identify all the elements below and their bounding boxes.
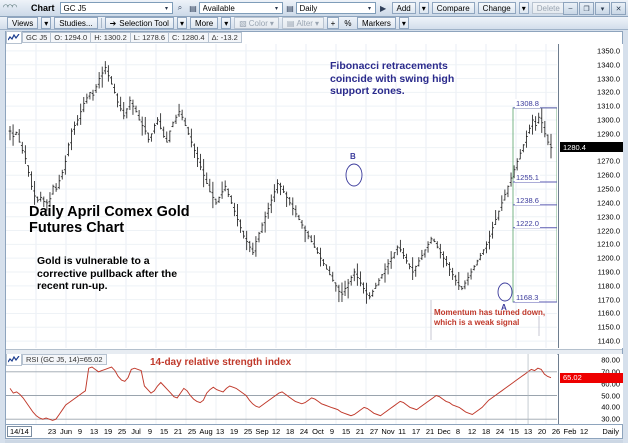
views-dropdown-icon[interactable]: ▾ xyxy=(41,17,51,29)
interval-dropdown[interactable]: Daily ▾ xyxy=(296,2,376,14)
price-tick-label: 1250.0 xyxy=(597,185,620,194)
price-tick-label: 1300.0 xyxy=(597,116,620,125)
date-tick-label: 15 xyxy=(160,427,168,436)
price-pane[interactable]: Fibonacci retracements coincide with swi… xyxy=(6,44,557,348)
selection-tool-dropdown-icon[interactable]: ▾ xyxy=(177,17,187,29)
price-tick-label: 1200.0 xyxy=(597,254,620,263)
date-tick-label: 17 xyxy=(412,427,420,436)
add-button[interactable]: Add xyxy=(392,2,416,14)
date-tick-label: 21 xyxy=(426,427,434,436)
date-tick-label: 18 xyxy=(482,427,490,436)
markers-dropdown-icon[interactable]: ▾ xyxy=(399,17,409,29)
calendar-icon[interactable]: ▤ xyxy=(285,2,296,14)
price-tick-label: 1180.0 xyxy=(598,281,620,290)
price-tick-label: 1340.0 xyxy=(597,60,620,69)
more-dropdown-icon[interactable]: ▾ xyxy=(221,17,231,29)
price-tick-label: 1160.0 xyxy=(598,309,620,318)
chevron-down-icon: ▾ xyxy=(315,19,319,28)
selection-tool-label: Selection Tool xyxy=(119,19,169,28)
quote-high: H: 1300.2 xyxy=(91,32,131,43)
rsi-last-badge: 65.02 xyxy=(560,373,623,383)
delete-button[interactable]: Delete xyxy=(532,2,565,14)
price-tick-label: 1330.0 xyxy=(597,74,620,83)
quote-open: O: 1294.0 xyxy=(51,32,91,43)
availability-value: Available xyxy=(203,4,272,13)
date-tick-label: Feb xyxy=(564,427,577,436)
zoom-in-button[interactable]: + xyxy=(327,17,339,29)
fib-level-label: 1222.0 xyxy=(515,219,540,228)
date-tick-label: Nov xyxy=(381,427,394,436)
studies-button[interactable]: Studies... xyxy=(54,17,97,29)
chevron-down-icon[interactable]: ▾ xyxy=(162,3,172,13)
cursor-icon: ➔ xyxy=(110,19,117,28)
markers-button[interactable]: Markers xyxy=(357,17,396,29)
price-tick-label: 1350.0 xyxy=(597,46,620,55)
date-tick-label: 25 xyxy=(244,427,252,436)
more-button[interactable]: More xyxy=(190,17,218,29)
price-axis[interactable]: 1350.01340.01330.01320.01310.01300.01290… xyxy=(558,44,623,348)
rsi-legend-bar: RSI (GC J5, 14)=65.02 xyxy=(6,354,107,365)
add-dropdown-icon[interactable]: ▾ xyxy=(419,2,429,14)
date-tick-label: 9 xyxy=(78,427,82,436)
date-tick-label: 20 xyxy=(538,427,546,436)
symbol-input[interactable]: GC J5 ▾ xyxy=(60,2,173,14)
quote-bar: GC J5 O: 1294.0 H: 1300.2 L: 1278.6 C: 1… xyxy=(6,32,242,43)
date-tick-label: 18 xyxy=(286,427,294,436)
date-tick-label: 13 xyxy=(216,427,224,436)
date-tick-label: 13 xyxy=(90,427,98,436)
chevron-down-icon[interactable]: ▾ xyxy=(272,3,282,13)
date-tick-label: 13 xyxy=(524,427,532,436)
date-tick-label: 27 xyxy=(370,427,378,436)
date-tick-label: 12 xyxy=(468,427,476,436)
date-tick-label: 25 xyxy=(118,427,126,436)
alter-button[interactable]: ▤ Alter ▾ xyxy=(282,17,324,29)
toolbar-divider xyxy=(101,18,102,28)
price-tick-label: 1230.0 xyxy=(597,212,620,221)
swing-low-marker-label: A xyxy=(501,303,507,312)
price-plot xyxy=(6,44,557,348)
momentum-annotation: Momentum has turned down, which is a wea… xyxy=(434,308,545,328)
chevron-down-icon: ▾ xyxy=(270,19,274,28)
date-tick-label: 9 xyxy=(148,427,152,436)
last-price-badge: 1280.4 xyxy=(560,142,623,152)
chart-tools-toolbar: Views ▾ Studies... ➔ Selection Tool ▾ Mo… xyxy=(0,17,628,30)
price-tick-label: 1240.0 xyxy=(597,198,620,207)
date-tick-label: Aug xyxy=(199,427,212,436)
chart-application-window: ◠◠◠ Chart GC J5 ▾ ⌕ ▤ Available ▾ ▤ Dail… xyxy=(0,0,628,443)
date-tick-label: 11 xyxy=(398,427,406,436)
selection-tool-button[interactable]: ➔ Selection Tool xyxy=(105,17,174,29)
price-tick-label: 1210.0 xyxy=(597,240,620,249)
line-style-icon: ▤ xyxy=(287,19,295,28)
rsi-legend-label: RSI (GC J5, 14)=65.02 xyxy=(22,354,107,365)
price-tick-label: 1190.0 xyxy=(598,268,620,277)
minimize-icon[interactable]: – xyxy=(563,2,578,15)
quote-symbol: GC J5 xyxy=(22,32,51,43)
chevron-down-icon[interactable]: ▾ xyxy=(365,3,375,13)
date-tick-label: 19 xyxy=(104,427,112,436)
date-tick-label: Sep xyxy=(255,427,268,436)
date-tick-label: 12 xyxy=(580,427,588,436)
date-tick-label: Jun xyxy=(60,427,72,436)
rsi-tick-label: 50.00 xyxy=(601,391,620,400)
swing-high-marker-label: B xyxy=(350,152,356,161)
close-icon[interactable]: ✕ xyxy=(611,2,626,15)
window-controls: – ❐ ▾ ✕ xyxy=(563,2,626,15)
date-tick-label: Oct xyxy=(312,427,324,436)
symbol-value: GC J5 xyxy=(64,4,162,13)
price-tick-label: 1270.0 xyxy=(597,157,620,166)
change-button[interactable]: Change xyxy=(478,2,516,14)
price-tick-label: 1150.0 xyxy=(598,323,620,332)
quote-change: Δ: -13.2 xyxy=(209,32,242,43)
bearish-annotation: Gold is vulnerable to a corrective pullb… xyxy=(37,255,177,293)
quote-low: L: 1278.6 xyxy=(131,32,169,43)
views-button[interactable]: Views xyxy=(7,17,38,29)
date-tick-label: '15 xyxy=(509,427,519,436)
date-tick-label: 24 xyxy=(496,427,504,436)
color-swatch-icon: ▧ xyxy=(239,19,247,28)
window-menu-icon[interactable]: ▾ xyxy=(595,2,610,15)
fibonacci-annotation: Fibonacci retracements coincide with swi… xyxy=(330,60,454,98)
rsi-tick-label: 80.00 xyxy=(601,355,620,364)
date-tick-label: 23 xyxy=(48,427,56,436)
date-tick-label: Dec xyxy=(437,427,450,436)
compare-button[interactable]: Compare xyxy=(432,2,475,14)
change-dropdown-icon[interactable]: ▾ xyxy=(519,2,529,14)
quote-close: C: 1280.4 xyxy=(169,32,209,43)
chart-frame: GC J5 O: 1294.0 H: 1300.2 L: 1278.6 C: 1… xyxy=(5,31,623,438)
date-tick-label: 15 xyxy=(342,427,350,436)
color-label: Color xyxy=(249,19,268,28)
restore-icon[interactable]: ❐ xyxy=(579,2,594,15)
play-icon[interactable]: ▶ xyxy=(378,2,389,14)
chart-type-icon[interactable] xyxy=(6,31,22,44)
color-button[interactable]: ▧ Color ▾ xyxy=(234,17,279,29)
app-logo-icon: ◠◠◠ xyxy=(3,3,29,14)
fib-level-label: 1255.1 xyxy=(515,173,540,182)
date-tick-label: 21 xyxy=(174,427,182,436)
rsi-caption: 14-day relative strength index xyxy=(150,357,291,368)
alter-label: Alter xyxy=(296,19,312,28)
price-tick-label: 1170.0 xyxy=(598,295,620,304)
date-tick-label: 19 xyxy=(230,427,238,436)
date-tick-label: 24 xyxy=(300,427,308,436)
fib-level-label: 1308.8 xyxy=(515,99,540,108)
fib-level-label: 1168.3 xyxy=(515,293,539,302)
interval-value: Daily xyxy=(300,4,365,13)
date-tick-label: Jul xyxy=(131,427,141,436)
fib-level-label: 1238.6 xyxy=(515,196,540,205)
date-tick-label: 12 xyxy=(272,427,280,436)
price-tick-label: 1260.0 xyxy=(597,171,620,180)
date-tick-label: 25 xyxy=(188,427,196,436)
price-tick-label: 1310.0 xyxy=(597,102,620,111)
availability-dropdown[interactable]: Available ▾ xyxy=(199,2,283,14)
axis-interval-label: Daily xyxy=(602,427,619,436)
date-tick-label: 8 xyxy=(456,427,460,436)
window-titlebar: ◠◠◠ Chart GC J5 ▾ ⌕ ▤ Available ▾ ▤ Dail… xyxy=(0,0,628,17)
date-tick-label: 9 xyxy=(330,427,334,436)
price-tick-label: 1140.0 xyxy=(598,337,620,346)
axis-start-label: 14/14 xyxy=(7,426,32,437)
search-icon[interactable]: ⌕ xyxy=(175,2,186,14)
percent-button[interactable]: % xyxy=(342,17,354,29)
rsi-study-icon[interactable] xyxy=(6,354,22,366)
date-tick-label: 21 xyxy=(356,427,364,436)
price-tick-label: 1290.0 xyxy=(597,129,620,138)
price-tick-label: 1320.0 xyxy=(597,88,620,97)
price-tick-label: 1220.0 xyxy=(597,226,620,235)
date-axis[interactable]: 14/14 23Jun9131925Jul9152125Aug131925Sep… xyxy=(5,424,623,439)
chart-title-annotation: Daily April Comex Gold Futures Chart xyxy=(29,204,190,236)
list-icon[interactable]: ▤ xyxy=(188,2,199,14)
rsi-tick-label: 40.00 xyxy=(601,403,620,412)
date-tick-label: 26 xyxy=(552,427,560,436)
app-title: Chart xyxy=(31,3,55,13)
rsi-tick-label: 30.00 xyxy=(601,415,620,424)
